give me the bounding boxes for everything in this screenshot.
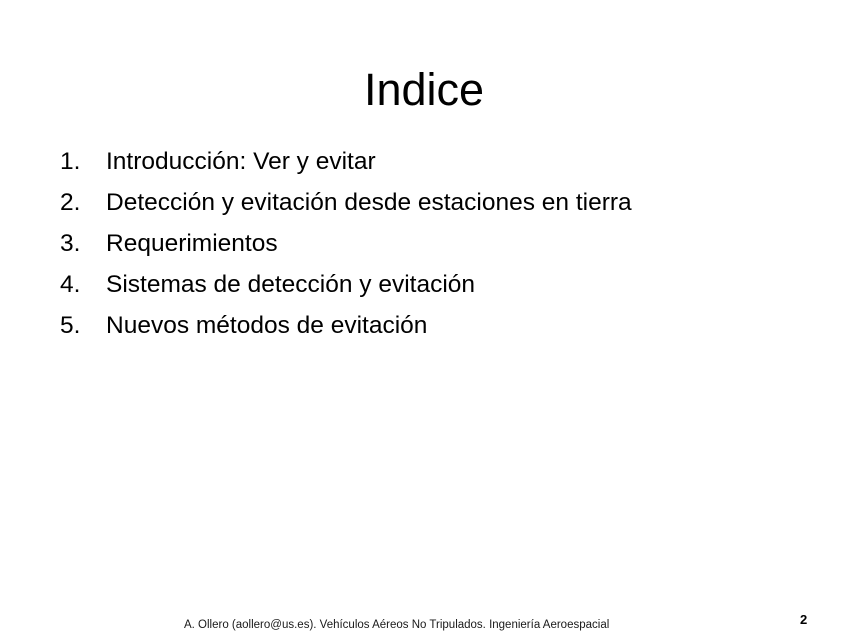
list-item: 3. Requerimientos bbox=[60, 229, 800, 270]
list-item: 4. Sistemas de detección y evitación bbox=[60, 270, 800, 311]
list-item: 5. Nuevos métodos de evitación bbox=[60, 311, 800, 352]
list-item-label: Requerimientos bbox=[106, 229, 278, 259]
list-item-label: Detección y evitación desde estaciones e… bbox=[106, 188, 632, 218]
list-item: 2. Detección y evitación desde estacione… bbox=[60, 188, 800, 229]
slide-footer: A. Ollero (aollero@us.es). Vehículos Aér… bbox=[184, 618, 609, 632]
list-item-label: Nuevos métodos de evitación bbox=[106, 311, 427, 341]
table-of-contents-list: 1. Introducción: Ver y evitar 2. Detecci… bbox=[60, 147, 800, 352]
list-item-label: Sistemas de detección y evitación bbox=[106, 270, 475, 300]
list-item-number: 2. bbox=[60, 188, 106, 218]
list-item-number: 5. bbox=[60, 311, 106, 341]
page-title: Indice bbox=[0, 66, 848, 113]
page-number: 2 bbox=[800, 612, 807, 627]
list-item: 1. Introducción: Ver y evitar bbox=[60, 147, 800, 188]
list-item-number: 3. bbox=[60, 229, 106, 259]
list-item-number: 1. bbox=[60, 147, 106, 177]
presentation-slide: Indice 1. Introducción: Ver y evitar 2. … bbox=[0, 0, 848, 636]
list-item-number: 4. bbox=[60, 270, 106, 300]
list-item-label: Introducción: Ver y evitar bbox=[106, 147, 376, 177]
